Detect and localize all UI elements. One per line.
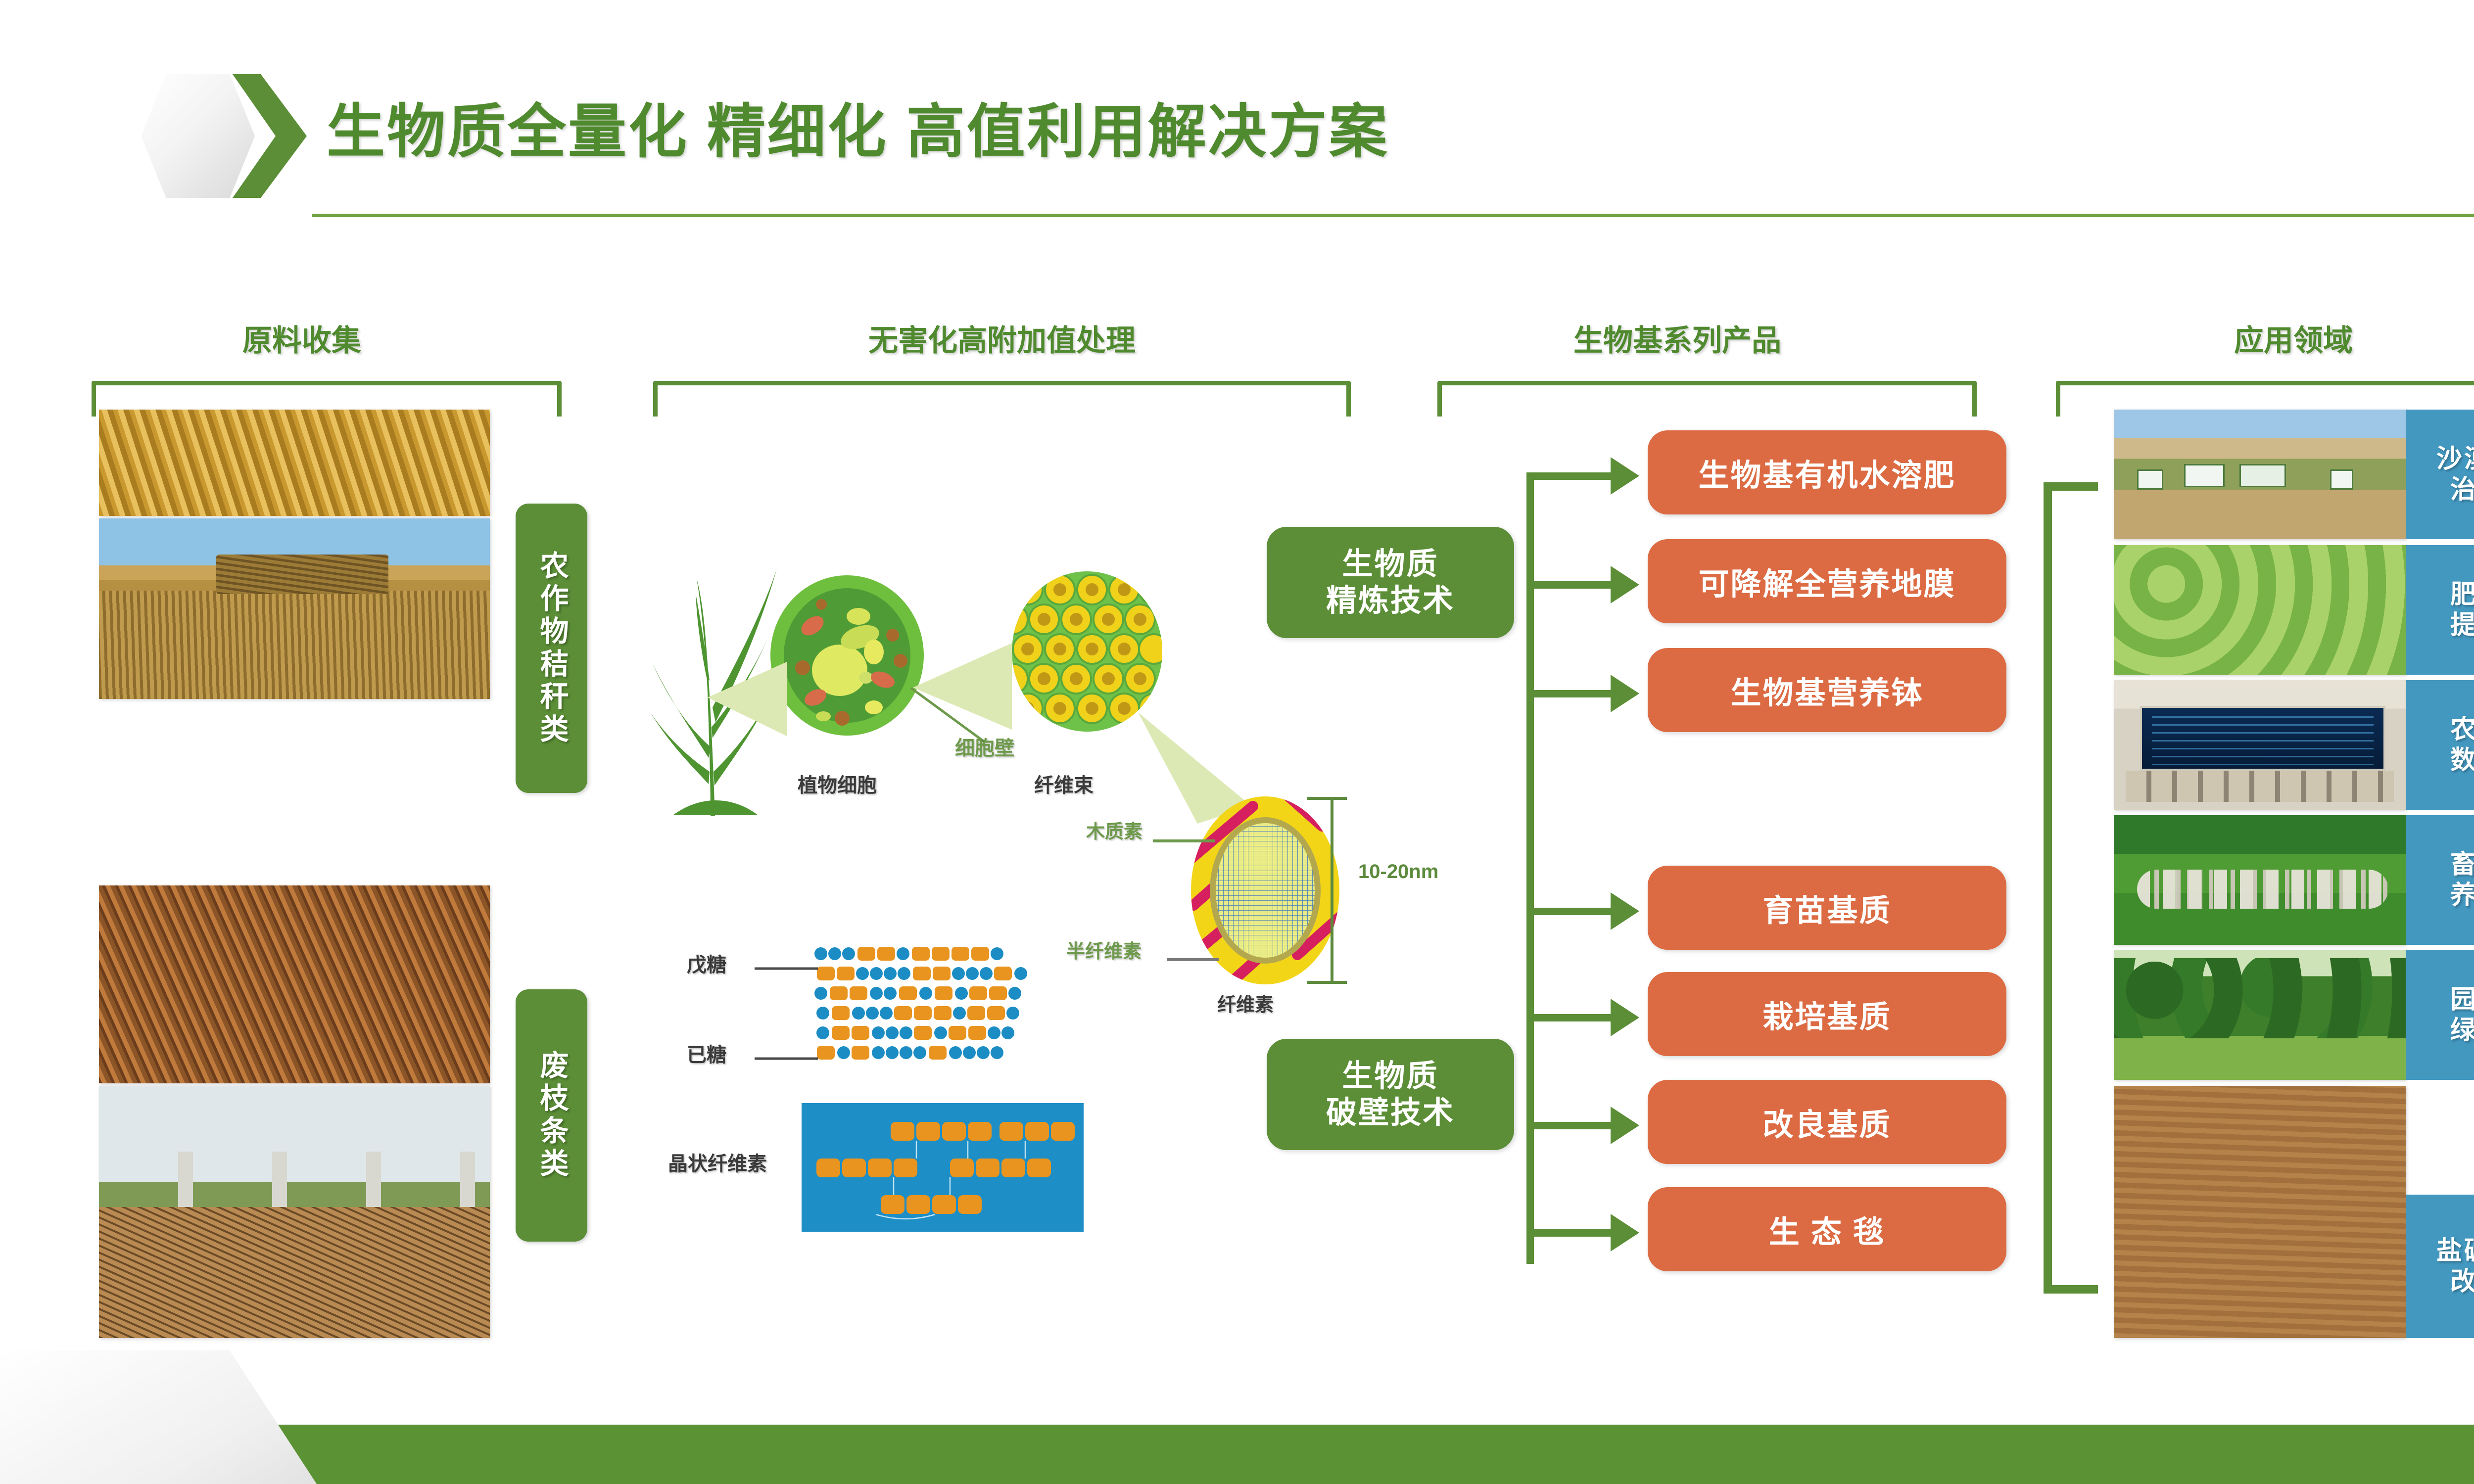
product-label: 生物基营养钵	[1730, 668, 1923, 712]
tech-box-biomass-refining[interactable]: 生物质 精炼技术	[1267, 527, 1514, 638]
application-label-fertility-improvement[interactable]: 肥力 提升	[2406, 545, 2474, 675]
page-title: 生物质全量化 精细化 高值利用解决方案	[327, 84, 1389, 169]
connector-branch-refining-2	[1526, 581, 1616, 589]
connector-branch-refining-3	[1526, 690, 1616, 697]
product-label: 育苗基质	[1762, 885, 1891, 930]
product-pill-improvement-substrate[interactable]: 改良基质	[1648, 1080, 2006, 1164]
section-label-processing: 无害化高附加值处理	[868, 317, 1136, 360]
app-line-2: 数据	[2450, 745, 2474, 776]
product-label: 栽培基质	[1762, 992, 1891, 1036]
feedstock-category-crop-straw[interactable]: 农作物秸秆类	[516, 504, 587, 793]
photo-livestock-grazing	[2114, 815, 2406, 945]
product-pill-biodegradable-nutrient-mulch-film[interactable]: 可降解全营养地膜	[1648, 539, 2006, 623]
connector-branch-wall-1	[1526, 908, 1616, 915]
product-pill-ecological-blanket[interactable]: 生 态 毯	[1648, 1187, 2006, 1271]
arrow-to-product-6	[1611, 1107, 1639, 1144]
hemicellulose-leader-line	[1167, 955, 1221, 965]
label-pentose: 戊糖	[687, 949, 726, 977]
application-label-livestock-breeding[interactable]: 畜牧 养殖	[2406, 815, 2474, 945]
bracket-processing	[653, 381, 1351, 417]
photo-corn-stalks	[99, 410, 490, 516]
application-label-saline-alkali-improvement[interactable]: 盐碱地 改良	[2406, 1195, 2474, 1338]
app-line-1: 园林	[2450, 984, 2474, 1015]
tech-line-1: 生物质	[1342, 1058, 1438, 1094]
product-pill-cultivation-substrate[interactable]: 栽培基质	[1648, 972, 2006, 1056]
connector-branch-wall-4	[1526, 1229, 1616, 1237]
app-line-2: 治理	[2450, 474, 2474, 505]
product-pill-seedling-substrate[interactable]: 育苗基质	[1648, 866, 2006, 950]
section-label-feedstock: 原料收集	[242, 317, 361, 360]
arrow-to-product-5	[1611, 999, 1639, 1036]
product-label: 改良基质	[1762, 1100, 1891, 1144]
lignin-leader-line	[1153, 836, 1217, 846]
application-label-landscape-greening[interactable]: 园林 绿化	[2406, 950, 2474, 1080]
tech-line-2: 破壁技术	[1326, 1095, 1455, 1131]
arrow-to-product-4	[1611, 892, 1639, 930]
connector-branch-refining-1	[1526, 472, 1616, 480]
app-line-2: 提升	[2450, 610, 2474, 641]
tech-line-1: 生物质	[1342, 546, 1438, 582]
product-label: 生物基有机水溶肥	[1698, 450, 1955, 495]
applications-bracket-bottom	[2044, 1285, 2098, 1294]
label-crystalline-cellulose: 晶状纤维素	[668, 1148, 767, 1176]
label-lignin: 木质素	[1086, 816, 1142, 843]
tech-line-2: 精炼技术	[1326, 583, 1455, 619]
hexagon-decoration-icon	[141, 74, 255, 198]
fiber-bundle-illustration	[1010, 570, 1164, 733]
footer-bar	[0, 1425, 2474, 1484]
photo-saline-alkali-land	[2114, 1086, 2406, 1338]
title-underline-divider	[312, 214, 2474, 217]
crystalline-cellulose-panel	[802, 1103, 1084, 1232]
vtab-label: 废枝条类	[531, 1050, 572, 1181]
app-line-1: 盐碱地	[2436, 1236, 2474, 1266]
vtab-label: 农作物秸秆类	[531, 551, 572, 746]
photo-straw-bale-field	[99, 518, 490, 699]
infographic-page: 生物质全量化 精细化 高值利用解决方案 原料收集 无害化高附加值处理 生物基系列…	[0, 0, 2474, 1484]
pentose-leader-line	[755, 964, 819, 974]
arrow-to-product-2	[1611, 566, 1639, 603]
product-pill-biobased-nutrient-pot[interactable]: 生物基营养钵	[1648, 648, 2006, 732]
applications-bracket-top	[2044, 482, 2098, 491]
app-line-2: 改良	[2450, 1266, 2474, 1297]
product-label: 可降解全营养地膜	[1698, 559, 1955, 603]
arrow-to-product-1	[1611, 457, 1639, 495]
sugar-chain-illustration	[814, 945, 1091, 1088]
photo-dry-branches	[99, 885, 490, 1083]
label-hexose: 已糖	[687, 1039, 726, 1067]
section-label-applications: 应用领域	[2234, 317, 2353, 360]
app-line-1: 沙漠化	[2436, 444, 2474, 474]
label-fiber-dimension: 10-20nm	[1358, 861, 1438, 883]
application-label-desertification-control[interactable]: 沙漠化 治理	[2406, 410, 2474, 539]
hexose-leader-line	[755, 1054, 819, 1064]
app-line-2: 养殖	[2450, 880, 2474, 911]
app-line-1: 肥力	[2450, 579, 2474, 610]
tech-box-biomass-wall-breaking[interactable]: 生物质 破壁技术	[1267, 1039, 1514, 1150]
section-label-products: 生物基系列产品	[1573, 317, 1781, 360]
magnify-cone-1-icon	[708, 653, 787, 742]
connector-spine-refining	[1526, 472, 1534, 970]
photo-vineyard-pruning	[99, 1086, 490, 1338]
app-line-1: 畜牧	[2450, 849, 2474, 880]
product-label: 生 态 毯	[1769, 1207, 1885, 1252]
label-plant-cell: 植物细胞	[798, 769, 877, 798]
plant-cell-illustration	[768, 574, 926, 737]
arrow-to-product-3	[1611, 675, 1639, 712]
connector-spine-wallbreaking	[1526, 908, 1534, 1264]
photo-desertification-control	[2114, 410, 2406, 539]
photo-landscape-greening	[2114, 950, 2406, 1080]
application-label-agriculture-data[interactable]: 农业 数据	[2406, 680, 2474, 810]
feedstock-category-waste-branches[interactable]: 废枝条类	[516, 989, 587, 1242]
arrow-to-product-7	[1611, 1214, 1639, 1252]
applications-bracket-spine	[2044, 482, 2052, 1294]
app-line-1: 农业	[2450, 714, 2474, 745]
product-pill-organic-water-soluble-fertilizer[interactable]: 生物基有机水溶肥	[1648, 430, 2006, 514]
label-fiber-bundle: 纤维束	[1034, 769, 1094, 798]
photo-agriculture-data-center	[2114, 680, 2406, 810]
app-line-2: 绿化	[2450, 1015, 2474, 1046]
connector-branch-wall-2	[1526, 1014, 1616, 1021]
bracket-products	[1437, 381, 1977, 417]
label-cellulose: 纤维素	[1217, 989, 1274, 1017]
connector-branch-wall-3	[1526, 1122, 1616, 1129]
photo-soil-fertility	[2114, 545, 2406, 675]
label-cell-wall: 细胞壁	[955, 732, 1014, 761]
